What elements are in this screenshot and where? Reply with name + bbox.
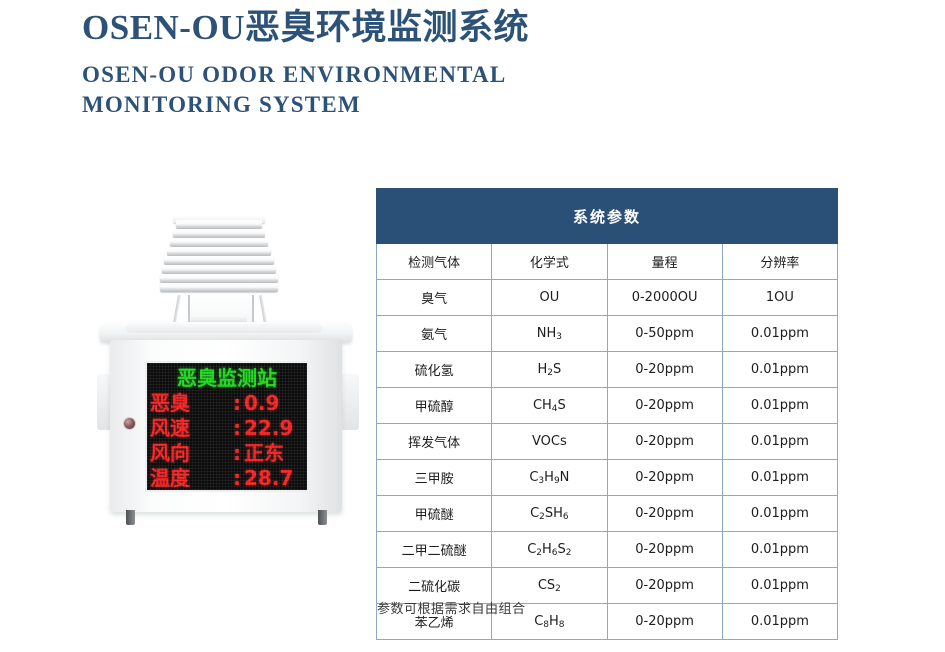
cell-resolution-1: 0.01ppm — [722, 316, 837, 352]
cell-resolution-3: 0.01ppm — [722, 388, 837, 424]
cell-formula-7: C2H6S2 — [492, 532, 607, 568]
cabinet-leg-left — [126, 510, 135, 525]
led-display-screen: 恶臭监测站 恶臭:0.9 风速:22.9 风向:正东 温度:28.7 — [145, 361, 309, 492]
table-row: 硫化氢H2S0-20ppm0.01ppm — [377, 352, 838, 388]
cell-resolution-7: 0.01ppm — [722, 532, 837, 568]
table-row: 甲硫醇CH4S0-20ppm0.01ppm — [377, 388, 838, 424]
table-title: 系统参数 — [377, 189, 838, 244]
led-row-temperature-separator: : — [230, 466, 244, 491]
shield-louvre — [176, 220, 262, 229]
led-row-temperature-label: 温度 — [150, 466, 230, 491]
led-row-wind-direction-label: 风向 — [150, 441, 230, 466]
table-row: 氨气NH30-50ppm0.01ppm — [377, 316, 838, 352]
cell-resolution-5: 0.01ppm — [722, 460, 837, 496]
column-header-formula: 化学式 — [492, 244, 607, 280]
cell-gas-0: 臭气 — [377, 280, 492, 316]
shield-louvre — [170, 238, 268, 247]
radiation-shield — [160, 218, 278, 296]
cell-range-3: 0-20ppm — [607, 388, 722, 424]
cell-resolution-9: 0.01ppm — [722, 604, 837, 640]
led-row-wind-direction: 风向:正东 — [147, 441, 307, 466]
cell-formula-3: CH4S — [492, 388, 607, 424]
cell-range-7: 0-20ppm — [607, 532, 722, 568]
cell-resolution-6: 0.01ppm — [722, 496, 837, 532]
cell-formula-1: NH3 — [492, 316, 607, 352]
table-row: 二甲二硫醚C2H6S20-20ppm0.01ppm — [377, 532, 838, 568]
led-row-wind-direction-value: 正东 — [244, 441, 284, 466]
led-row-temperature: 温度:28.7 — [147, 466, 307, 491]
cell-range-1: 0-50ppm — [607, 316, 722, 352]
led-row-odor-value: 0.9 — [244, 391, 279, 416]
cabinet-leg-right — [318, 510, 327, 525]
table-row: 挥发气体VOCs0-20ppm0.01ppm — [377, 424, 838, 460]
column-header-resolution: 分辨率 — [722, 244, 837, 280]
column-header-gas: 检测气体 — [377, 244, 492, 280]
cell-formula-2: H2S — [492, 352, 607, 388]
shield-louvre — [160, 274, 278, 283]
cell-formula-4: VOCs — [492, 424, 607, 460]
cell-gas-7: 二甲二硫醚 — [377, 532, 492, 568]
cell-formula-5: C3H9N — [492, 460, 607, 496]
cell-range-4: 0-20ppm — [607, 424, 722, 460]
table-row: 甲硫醚C2SH60-20ppm0.01ppm — [377, 496, 838, 532]
cabinet-lid-inner — [126, 324, 322, 333]
cell-range-2: 0-20ppm — [607, 352, 722, 388]
led-row-wind-direction-separator: : — [230, 441, 244, 466]
cell-range-6: 0-20ppm — [607, 496, 722, 532]
shield-louvre — [173, 229, 265, 238]
table-note: 参数可根据需求自由组合 — [377, 598, 526, 617]
cell-range-8: 0-20ppm — [607, 568, 722, 604]
led-row-odor-separator: : — [230, 391, 244, 416]
page-title: OSEN-OU恶臭环境监测系统 — [82, 6, 702, 50]
cabinet-side-wing-right — [341, 374, 359, 430]
led-row-temperature-value: 28.7 — [244, 466, 293, 491]
shield-louvre — [162, 265, 276, 274]
led-row-wind-speed-value: 22.9 — [244, 416, 293, 441]
cell-gas-6: 甲硫醚 — [377, 496, 492, 532]
cell-gas-2: 硫化氢 — [377, 352, 492, 388]
cell-gas-5: 三甲胺 — [377, 460, 492, 496]
cell-range-5: 0-20ppm — [607, 460, 722, 496]
page-subtitle: OSEN-OU ODOR ENVIRONMENTAL MONITORING SY… — [82, 60, 642, 121]
system-parameters-table-wrap: 系统参数 检测气体 化学式 量程 分辨率 臭气OU0-2000OU1OU氨气NH… — [376, 188, 838, 640]
shield-louvre — [164, 256, 274, 265]
page-title-block: OSEN-OU恶臭环境监测系统 OSEN-OU ODOR ENVIRONMENT… — [82, 6, 702, 121]
cell-resolution-8: 0.01ppm — [722, 568, 837, 604]
cell-gas-1: 氨气 — [377, 316, 492, 352]
cell-resolution-0: 1OU — [722, 280, 837, 316]
led-row-wind-speed: 风速:22.9 — [147, 416, 307, 441]
cell-gas-4: 挥发气体 — [377, 424, 492, 460]
cell-range-9: 0-20ppm — [607, 604, 722, 640]
cabinet-lock-icon — [124, 418, 135, 429]
table-row: 三甲胺C3H9N0-20ppm0.01ppm — [377, 460, 838, 496]
cell-gas-3: 甲硫醇 — [377, 388, 492, 424]
cell-resolution-2: 0.01ppm — [722, 352, 837, 388]
shield-louvre — [167, 247, 271, 256]
shield-louvre — [160, 283, 278, 292]
led-row-wind-speed-separator: : — [230, 416, 244, 441]
system-parameters-table: 系统参数 检测气体 化学式 量程 分辨率 臭气OU0-2000OU1OU氨气NH… — [376, 188, 838, 640]
led-display-title: 恶臭监测站 — [147, 365, 307, 391]
led-row-odor: 恶臭:0.9 — [147, 391, 307, 416]
table-header-row: 检测气体 化学式 量程 分辨率 — [377, 244, 838, 280]
cell-range-0: 0-2000OU — [607, 280, 722, 316]
cell-formula-0: OU — [492, 280, 607, 316]
led-row-odor-label: 恶臭 — [150, 391, 230, 416]
cell-formula-6: C2SH6 — [492, 496, 607, 532]
device-illustration: 恶臭监测站 恶臭:0.9 风速:22.9 风向:正东 温度:28.7 — [96, 218, 366, 538]
table-row: 臭气OU0-2000OU1OU — [377, 280, 838, 316]
cell-resolution-4: 0.01ppm — [722, 424, 837, 460]
column-header-range: 量程 — [607, 244, 722, 280]
led-row-wind-speed-label: 风速 — [150, 416, 230, 441]
